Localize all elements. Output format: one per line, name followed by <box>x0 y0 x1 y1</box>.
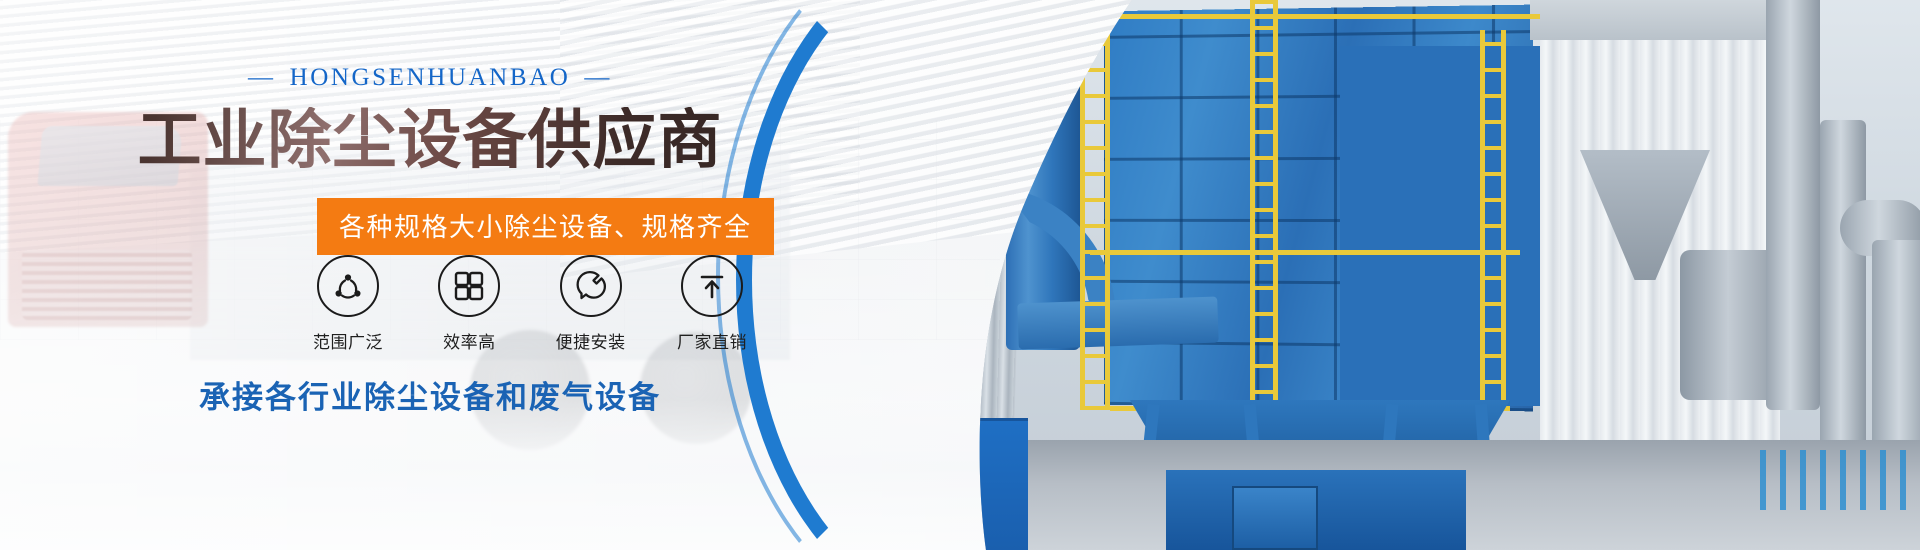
subtitle-badge: 各种规格大小除尘设备、规格齐全 <box>317 198 774 255</box>
feature-item-easy-install[interactable]: 便捷安装 <box>543 255 639 353</box>
vertical-pipe <box>1820 120 1866 450</box>
yellow-railing <box>1080 14 1540 19</box>
feature-label: 厂家直销 <box>677 328 747 353</box>
feature-item-wide-range[interactable]: 范围广泛 <box>300 255 396 353</box>
hero-banner: —HONGSENHUANBAO— 工业除尘设备供应商 各种规格大小除尘设备、规格… <box>0 0 1920 550</box>
blue-duct-horizontal <box>1017 297 1218 350</box>
eyebrow-dash-right: — <box>570 64 626 92</box>
feature-label: 范围广泛 <box>313 328 383 353</box>
vertical-pipe <box>1766 0 1820 410</box>
equipment-access-door <box>1232 486 1318 550</box>
feature-list: 范围广泛 效率高 <box>300 255 760 353</box>
feature-label: 效率高 <box>443 328 496 353</box>
blue-fence <box>1760 450 1920 510</box>
eyebrow-text: HONGSENHUANBAO <box>290 64 571 91</box>
tagline: 承接各行业除尘设备和废气设备 <box>0 372 860 417</box>
page-title: 工业除尘设备供应商 <box>0 107 860 176</box>
brand-eyebrow: —HONGSENHUANBAO— <box>0 64 860 92</box>
eyebrow-dash-left: — <box>234 64 290 92</box>
wrench-icon <box>560 255 622 317</box>
factory-roof <box>1530 0 1790 40</box>
grid-squares-icon <box>438 255 500 317</box>
yellow-ladder <box>1250 0 1278 420</box>
yellow-ladder <box>1480 30 1506 410</box>
yellow-railing <box>1090 250 1520 255</box>
feature-label: 便捷安装 <box>556 328 626 353</box>
feature-item-high-efficiency[interactable]: 效率高 <box>421 255 517 353</box>
network-nodes-icon <box>317 255 379 317</box>
feature-item-factory-direct[interactable]: 厂家直销 <box>664 255 760 353</box>
banner-content: —HONGSENHUANBAO— 工业除尘设备供应商 各种规格大小除尘设备、规格… <box>0 0 860 550</box>
up-arrow-icon <box>681 255 743 317</box>
